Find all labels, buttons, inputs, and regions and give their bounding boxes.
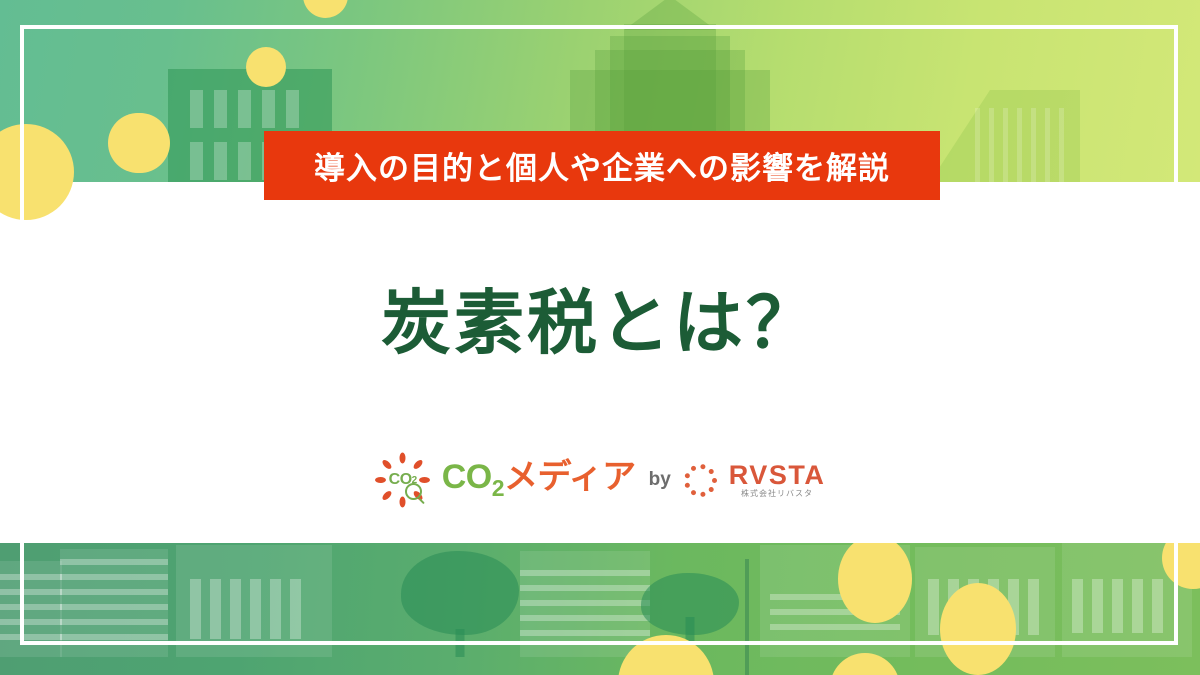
building-window [1112,579,1123,633]
building-window [1092,579,1103,633]
window-stripe [60,574,168,580]
ring-dot [708,485,715,492]
wordmark-co2-label: CO [442,458,492,496]
tree-crown [401,551,519,635]
window-stripe [0,634,62,640]
building-window [1132,579,1143,633]
co2-media-wordmark: CO2メディア [442,460,636,500]
rvsta-company-name: 株式会社リバスタ [741,490,813,498]
building-window-grid [1072,579,1163,633]
building-window [1028,579,1039,635]
petal [400,453,406,464]
rvsta-name: RVSTA [729,462,826,489]
ring-dot [700,491,706,497]
building-window [238,90,251,128]
by-label: by [647,469,673,491]
accent-dot [108,113,168,173]
building-window [214,90,227,128]
building-window [238,142,251,180]
ramp-line [989,108,994,182]
building-window [190,90,203,128]
ramp-line [1003,108,1008,182]
building-window [190,579,201,639]
ring-dot [684,472,690,478]
window-stripe [60,559,168,565]
wordmark-co2: CO2 [442,458,504,496]
subtitle-text: 導入の目的と個人や企業への影響を解説 [314,143,890,188]
rvsta-ring-icon [684,463,718,497]
tree-trunk [456,629,465,657]
building-window [210,579,221,639]
window-stripe [520,570,650,576]
window-stripe [520,600,650,606]
ramp-line [1045,108,1050,182]
building-window-stripes [520,570,650,645]
logo-lockup[interactable]: CO2 CO2メディア by RVSTA 株式会社リバスタ [0,452,1200,508]
window-stripe [0,604,62,610]
building-window [190,142,203,180]
building-window [286,90,299,128]
accent-dot [303,0,348,18]
building-window [230,579,241,639]
factory-ramp-lines [975,108,1080,182]
window-stripe [60,589,168,595]
ramp-line [975,108,980,182]
building-window-grid [190,579,301,639]
building-window-row [190,90,299,128]
building-window [250,579,261,639]
window-stripe [0,619,62,625]
rvsta-wordmark: RVSTA 株式会社リバスタ [729,462,826,498]
ramp-line [1017,108,1022,182]
page-title: 炭素税とは？ [0,288,1200,358]
wordmark-media: メディア [504,458,636,496]
bottom-decorative-band [0,543,1200,675]
ring-dot [712,478,717,483]
window-stripe [0,574,62,580]
building-window [928,579,939,635]
petal [419,477,430,483]
magnifier-icon [405,483,422,500]
window-stripe [520,615,650,621]
thumbnail-card: 導入の目的と個人や企業への影響を解説 炭素税とは？ CO2 CO2メディア [0,0,1200,675]
building-window [290,579,301,639]
tree-icon [400,543,520,657]
petal [375,477,386,483]
window-stripe [770,624,900,630]
building-window [1072,579,1083,633]
ramp-line [1059,108,1064,182]
window-stripe [520,585,650,591]
window-stripe [60,634,168,640]
building-window [270,579,281,639]
window-stripe [60,604,168,610]
ring-dot [708,467,715,474]
ramp-line [1031,108,1036,182]
building-window-stripes [60,559,168,649]
co2-petal-icon: CO2 [375,452,431,508]
ring-dot [690,464,697,471]
accent-dot [246,47,286,87]
wordmark-co2-subscript: 2 [492,475,504,501]
ring-dot [700,463,706,469]
building-window-stripes [0,574,62,649]
street-pole [745,559,749,675]
window-stripe [60,619,168,625]
building-window [262,90,275,128]
window-stripe [520,630,650,636]
petal [400,497,406,508]
building-window [1152,579,1163,633]
subtitle-banner: 導入の目的と個人や企業への影響を解説 [264,131,940,200]
window-stripe [0,589,62,595]
ring-dot [690,489,697,496]
accent-dot [940,583,1016,675]
building-window [214,142,227,180]
ring-dot [684,482,690,488]
